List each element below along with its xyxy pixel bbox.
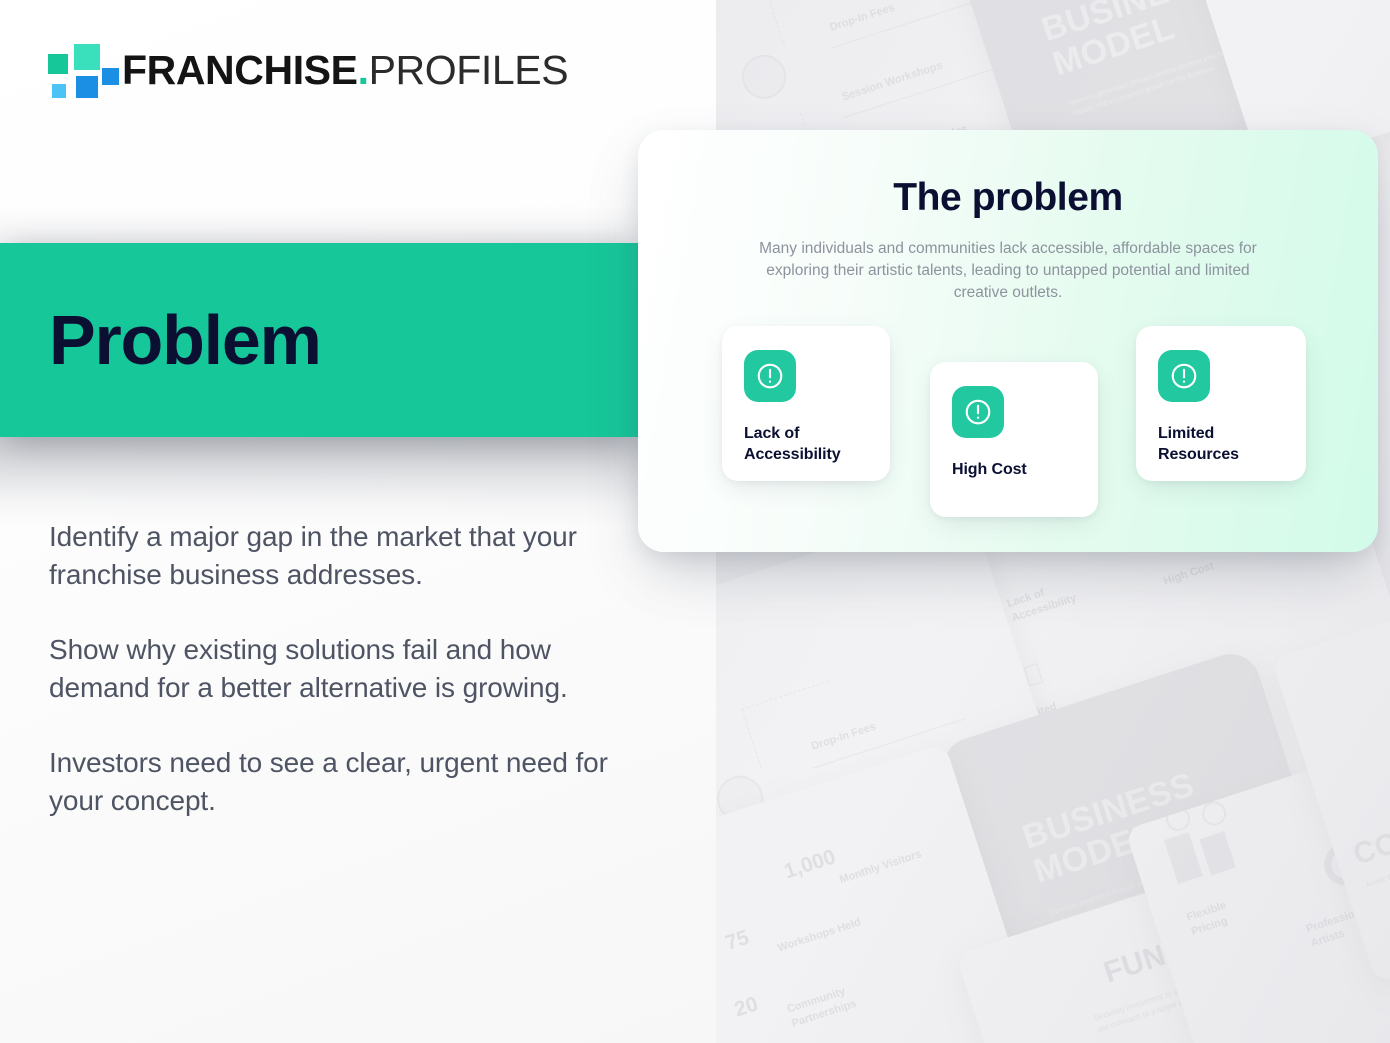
page-title: Problem — [49, 305, 321, 375]
alert-circle-icon — [744, 350, 796, 402]
headline-banner: Problem — [0, 243, 638, 437]
problem-tile-lack-of-accessibility[interactable]: Lack of Accessibility — [722, 326, 890, 481]
ghost-metric-value: 20 — [732, 992, 762, 1022]
problem-tile-label: Limited Resources — [1158, 424, 1284, 466]
ghost-label-lack-accessibility: Lack of Accessibility — [1005, 570, 1100, 626]
squares-logo-icon — [46, 42, 108, 98]
ghost-metric-label: Monthly Visitors — [838, 848, 923, 886]
brand-name-dot: . — [358, 47, 369, 93]
bar-chart-icon — [1199, 831, 1235, 875]
body-paragraph-2: Show why existing solutions fail and how… — [49, 631, 619, 706]
preview-card-title: The problem — [638, 176, 1378, 220]
body-copy: Identify a major gap in the market that … — [49, 518, 619, 819]
ghost-title-competition: COM — [1349, 818, 1390, 872]
problem-tile-limited-resources[interactable]: Limited Resources — [1136, 326, 1306, 481]
bar-chart-icon — [1164, 832, 1203, 884]
ghost-label-high-cost: High Cost — [1162, 560, 1215, 587]
slide-canvas: Drop-In Fees Session Workshops Commissio… — [0, 0, 1390, 1043]
problem-tile-label: Lack of Accessibility — [744, 424, 868, 466]
brand-name-bold: FRANCHISE — [122, 47, 358, 93]
preview-card-subtitle: Many individuals and communities lack ac… — [748, 238, 1268, 304]
ghost-metric-label: Workshops Held — [776, 916, 862, 954]
problem-tile-label: High Cost — [952, 460, 1076, 481]
brand-wordmark: FRANCHISE.PROFILES — [122, 50, 568, 91]
ghost-metric-value: 75 — [723, 926, 753, 956]
problem-tiles: Lack of Accessibility High Cost — [638, 326, 1378, 536]
brand-name-thin: PROFILES — [369, 47, 569, 93]
headline-bar-bottom-shadow — [0, 437, 638, 527]
headline-bar-top-shadow — [0, 205, 638, 245]
body-paragraph-3: Investors need to see a clear, urgent ne… — [49, 744, 619, 819]
ghost-dash-bracket — [741, 680, 848, 767]
alert-circle-icon — [952, 386, 1004, 438]
ghost-metric-label: Community Partnerships — [785, 982, 861, 1032]
brand-logo[interactable]: FRANCHISE.PROFILES — [46, 42, 568, 98]
alert-circle-icon — [1158, 350, 1210, 402]
preview-card-header: The problem Many individuals and communi… — [638, 130, 1378, 304]
problem-preview-card[interactable]: The problem Many individuals and communi… — [638, 130, 1378, 552]
left-content-panel: FRANCHISE.PROFILES Problem Identify a ma… — [0, 0, 716, 1043]
ghost-metric-value: 1,000 — [781, 845, 838, 884]
dollar-circle-icon — [736, 49, 791, 104]
body-paragraph-1: Identify a major gap in the market that … — [49, 518, 619, 593]
ghost-label-flexible-pricing: Flexible Pricing — [1185, 891, 1257, 940]
problem-tile-high-cost[interactable]: High Cost — [930, 362, 1098, 517]
